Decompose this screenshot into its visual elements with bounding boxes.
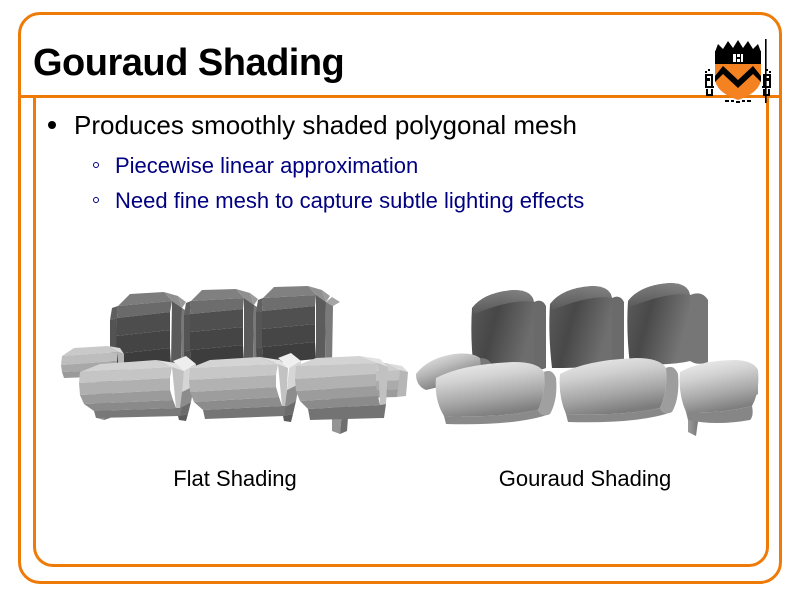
bullet-level2: Piecewise linear approximation [40, 148, 770, 183]
gouraud-shading-sofa-image [410, 268, 760, 448]
page-title: Gouraud Shading [33, 42, 344, 85]
bullet-level1: Produces smoothly shaded polygonal mesh [40, 108, 770, 142]
bullet-circle-icon [93, 162, 99, 168]
figure-caption: Flat Shading [60, 466, 410, 492]
slide: Gouraud Shading [0, 0, 800, 600]
bullet-circle-icon [93, 197, 99, 203]
bullet-text: Piecewise linear approximation [115, 153, 418, 178]
figure-caption: Gouraud Shading [410, 466, 760, 492]
flat-shading-sofa-image [60, 268, 410, 448]
princeton-shield-icon [703, 38, 775, 106]
bullet-list: Produces smoothly shaded polygonal mesh … [40, 108, 770, 218]
figure-row: Flat Shading [40, 268, 770, 508]
title-bar: Gouraud Shading [0, 12, 800, 97]
bullet-level2: Need fine mesh to capture subtle lightin… [40, 183, 770, 218]
bullet-text: Need fine mesh to capture subtle lightin… [115, 188, 584, 213]
figure-gouraud-shading: Gouraud Shading [410, 268, 760, 508]
bullet-disc-icon [48, 121, 56, 129]
bullet-text: Produces smoothly shaded polygonal mesh [74, 110, 577, 140]
figure-flat-shading: Flat Shading [60, 268, 410, 508]
